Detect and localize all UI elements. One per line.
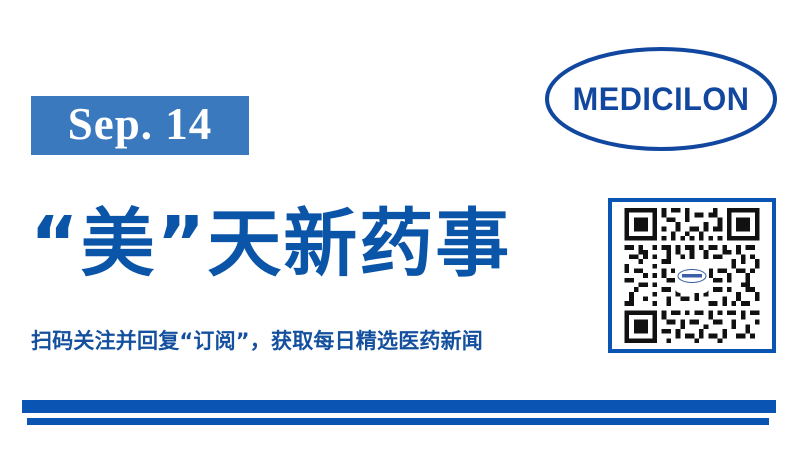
logo-ellipse-icon bbox=[543, 45, 779, 153]
qr-center-ellipse-icon bbox=[677, 267, 707, 285]
headline: “美”天新药事 bbox=[30, 188, 590, 300]
subtitle: 扫码关注并回复“订阅”，获取每日精选医药新闻 bbox=[31, 324, 591, 358]
qr-code-panel[interactable] bbox=[608, 198, 776, 353]
footer-rule-thick bbox=[22, 400, 776, 413]
headline-text: “美”天新药事 bbox=[30, 207, 511, 281]
qr-code-image bbox=[618, 208, 766, 343]
subtitle-text: 扫码关注并回复“订阅”，获取每日精选医药新闻 bbox=[31, 331, 483, 352]
poster-canvas: Sep. 14 MEDICILON “美”天新药事 扫码关注并回复“订阅”，获取… bbox=[0, 0, 800, 468]
medicilon-logo: MEDICILON bbox=[543, 45, 779, 153]
footer-rule-thin bbox=[27, 418, 769, 425]
qr-center-logo bbox=[675, 259, 709, 293]
date-badge-label: Sep. 14 bbox=[68, 102, 213, 147]
date-badge: Sep. 14 bbox=[31, 96, 249, 155]
